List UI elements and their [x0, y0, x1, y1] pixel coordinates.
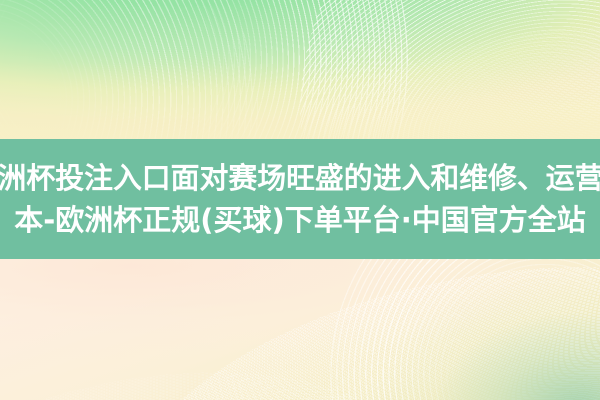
promo-banner: 欧洲杯投注入口面对赛场旺盛的进入和维修、运营资 本-欧洲杯正规(买球)下单平台·…: [0, 0, 600, 400]
top-gradient-wash: [0, 0, 600, 139]
title-band: 欧洲杯投注入口面对赛场旺盛的进入和维修、运营资 本-欧洲杯正规(买球)下单平台·…: [0, 139, 600, 259]
bottom-right-green-tint: [340, 259, 600, 400]
banner-top-decoration: [0, 0, 600, 139]
banner-bottom-decoration: [0, 259, 600, 400]
banner-title-line-1: 欧洲杯投注入口面对赛场旺盛的进入和维修、运营资: [0, 157, 600, 199]
banner-title-line-2: 本-欧洲杯正规(买球)下单平台·中国官方全站: [14, 199, 586, 241]
